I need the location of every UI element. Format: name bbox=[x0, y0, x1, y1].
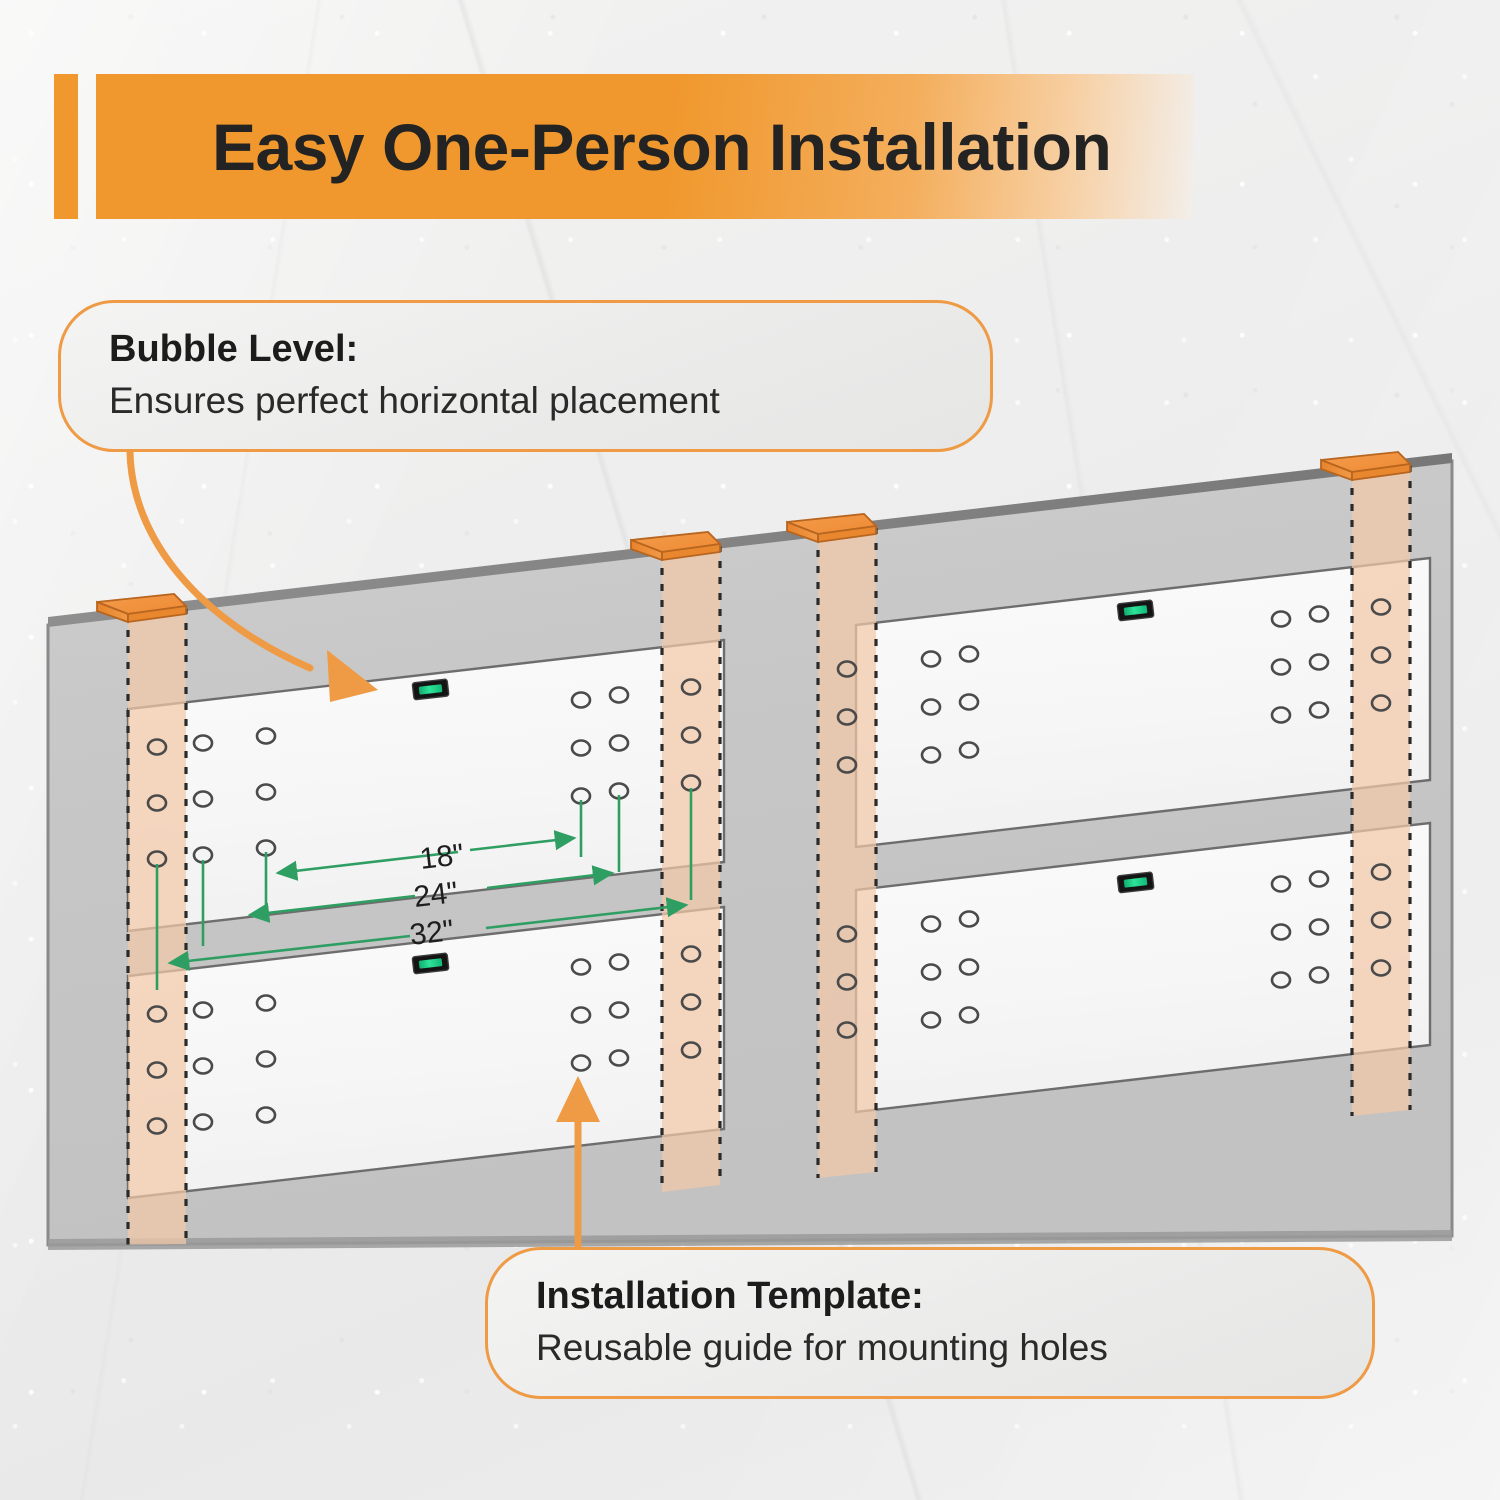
bubble-level-left-upper bbox=[412, 679, 449, 700]
callout-bubble-level[interactable]: Bubble Level: Ensures perfect horizontal… bbox=[58, 300, 993, 452]
callout-bubble-level-body: Ensures perfect horizontal placement bbox=[109, 379, 952, 423]
dimension-label-24: 24" bbox=[412, 876, 460, 915]
callout-installation-template-body: Reusable guide for mounting holes bbox=[536, 1326, 1334, 1370]
bubble-level-left-lower bbox=[412, 953, 449, 974]
dimension-label-32: 32" bbox=[408, 914, 456, 953]
stud-strip-3 bbox=[818, 527, 876, 1178]
stud-strip-4 bbox=[1352, 465, 1410, 1116]
dimension-label-18: 18" bbox=[418, 838, 466, 877]
bubble-level-right-lower bbox=[1117, 872, 1154, 893]
bubble-level-right-upper bbox=[1117, 600, 1154, 621]
callout-installation-template-title: Installation Template: bbox=[536, 1274, 1334, 1319]
wall-assembly bbox=[48, 452, 1452, 1250]
callout-installation-template[interactable]: Installation Template: Reusable guide fo… bbox=[485, 1247, 1375, 1399]
callout-bubble-level-title: Bubble Level: bbox=[109, 327, 952, 372]
